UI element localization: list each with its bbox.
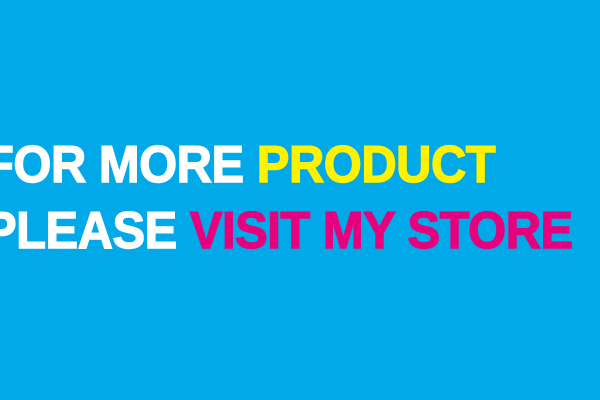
promo-banner: FOR MOREPRODUCT PLEASEVISIT MY STORE	[0, 0, 600, 400]
headline-block: FOR MOREPRODUCT PLEASEVISIT MY STORE	[0, 132, 600, 264]
headline-segment-please: PLEASE	[0, 202, 177, 260]
headline-segment-for-more: FOR MORE	[0, 136, 244, 194]
headline-segment-visit-my-store: VISIT MY STORE	[190, 202, 573, 260]
headline-segment-product: PRODUCT	[257, 136, 495, 194]
headline-line-1: FOR MOREPRODUCT	[0, 132, 600, 198]
headline-line-2: PLEASEVISIT MY STORE	[0, 198, 600, 264]
